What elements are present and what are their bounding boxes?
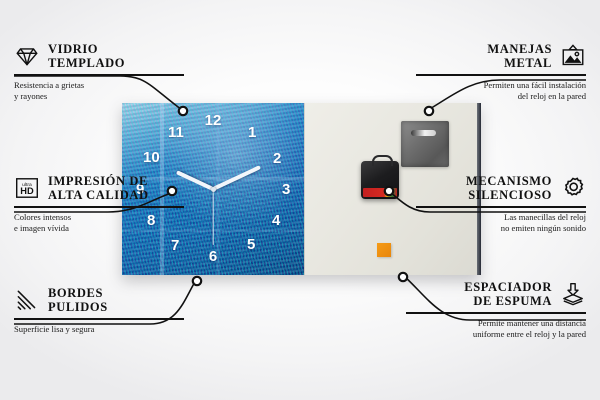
hotspot-bordes (193, 277, 201, 285)
clock-numeral-5: 5 (247, 237, 255, 252)
callout-title-line1: BORDES (48, 286, 103, 300)
callout-description: Colores intensos e imagen vívida (14, 212, 184, 234)
callout-title: ESPACIADOR DE ESPUMA (464, 280, 552, 308)
callout-divider (416, 74, 586, 76)
callout-description: Las manecillas del reloj no emiten ningú… (416, 212, 586, 234)
callout-title-line1: IMPRESIÓN DE (48, 174, 148, 188)
callout-desc-line2: e imagen vívida (14, 223, 69, 233)
callout-vidrio-templado[interactable]: VIDRIO TEMPLADO Resistencia a grietas y … (14, 42, 184, 102)
ultra-hd-icon: ultra HD (14, 175, 40, 201)
foam-spacer-icon (560, 281, 586, 307)
mechanism-label-strip (363, 188, 397, 197)
callout-divider (416, 206, 586, 208)
callout-desc-line1: Permiten una fácil instalación (484, 80, 586, 90)
callout-desc-line1: Resistencia a grietas (14, 80, 84, 90)
clock-second-hand (212, 189, 213, 245)
callout-title-line2: SILENCIOSO (468, 188, 552, 202)
polished-edges-icon (14, 287, 40, 313)
mechanism-hanging-loop (372, 155, 393, 166)
callout-desc-line1: Superficie lisa y segura (14, 324, 94, 334)
diamond-icon (14, 43, 40, 69)
callout-header: MANEJAS METAL (416, 42, 586, 70)
callout-divider (14, 74, 184, 76)
callout-desc-line1: Las manecillas del reloj (504, 212, 586, 222)
ultra-hd-icon-main: HD (20, 186, 34, 196)
callout-title-line2: METAL (504, 56, 552, 70)
callout-espaciador-espuma[interactable]: ESPACIADOR DE ESPUMA Permite mantener un… (406, 280, 586, 340)
clock-mechanism-box (361, 161, 399, 199)
clock-numeral-3: 3 (282, 182, 290, 197)
callout-title-line2: TEMPLADO (48, 56, 125, 70)
callout-manejas-metal[interactable]: MANEJAS METAL Permiten una fácil instala… (416, 42, 586, 102)
callout-divider (14, 318, 184, 320)
clock-numeral-11: 11 (168, 125, 184, 140)
callout-header: ESPACIADOR DE ESPUMA (406, 280, 586, 308)
callout-header: ultra HD IMPRESIÓN DE ALTA CALIDAD (14, 174, 184, 202)
callout-desc-line2: no emiten ningún sonido (501, 223, 586, 233)
infographic-canvas: 12 1 2 3 4 5 6 7 8 9 10 11 (0, 0, 600, 400)
callout-header: VIDRIO TEMPLADO (14, 42, 184, 70)
callout-description: Resistencia a grietas y rayones (14, 80, 184, 102)
callout-desc-line1: Permite mantener una distancia (478, 318, 586, 328)
callout-description: Permiten una fácil instalación del reloj… (416, 80, 586, 102)
callout-desc-line2: uniforme entre el reloj y la pared (473, 329, 586, 339)
clock-numeral-12: 12 (205, 113, 222, 128)
callout-title: VIDRIO TEMPLADO (48, 42, 125, 70)
callout-title-line1: MECANISMO (466, 174, 552, 188)
orange-foam-spacer (377, 243, 391, 257)
clock-numeral-2: 2 (273, 151, 281, 166)
gear-icon (560, 175, 586, 201)
clock-numeral-7: 7 (171, 238, 179, 253)
clock-numeral-10: 10 (143, 150, 160, 165)
callout-title-line1: VIDRIO (48, 42, 98, 56)
clock-numeral-6: 6 (209, 249, 217, 264)
callout-divider (406, 312, 586, 314)
callout-divider (14, 206, 184, 208)
metal-hanger-plate (401, 121, 449, 167)
callout-mecanismo-silencioso[interactable]: MECANISMO SILENCIOSO Las manecillas del … (416, 174, 586, 234)
callout-header: BORDES PULIDOS (14, 286, 184, 314)
callout-title: IMPRESIÓN DE ALTA CALIDAD (48, 174, 149, 202)
clock-numeral-4: 4 (272, 213, 280, 228)
callout-title: MECANISMO SILENCIOSO (466, 174, 552, 202)
callout-bordes-pulidos[interactable]: BORDES PULIDOS Superficie lisa y segura (14, 286, 184, 335)
callout-title: MANEJAS METAL (487, 42, 552, 70)
clock-numeral-1: 1 (248, 125, 256, 140)
callout-description: Permite mantener una distancia uniforme … (406, 318, 586, 340)
callout-desc-line1: Colores intensos (14, 212, 71, 222)
callout-title-line1: MANEJAS (487, 42, 552, 56)
callout-description: Superficie lisa y segura (14, 324, 184, 335)
callout-title: BORDES PULIDOS (48, 286, 108, 314)
picture-frame-icon (560, 43, 586, 69)
callout-impresion-alta-calidad[interactable]: ultra HD IMPRESIÓN DE ALTA CALIDAD Color… (14, 174, 184, 234)
callout-desc-line2: y rayones (14, 91, 47, 101)
callout-header: MECANISMO SILENCIOSO (416, 174, 586, 202)
callout-title-line2: ALTA CALIDAD (48, 188, 149, 202)
callout-title-line2: PULIDOS (48, 300, 108, 314)
hanger-slot (411, 130, 436, 136)
callout-title-line2: DE ESPUMA (473, 294, 552, 308)
callout-desc-line2: del reloj en la pared (518, 91, 586, 101)
callout-title-line1: ESPACIADOR (464, 280, 552, 294)
clock-hand-hub (211, 187, 216, 192)
